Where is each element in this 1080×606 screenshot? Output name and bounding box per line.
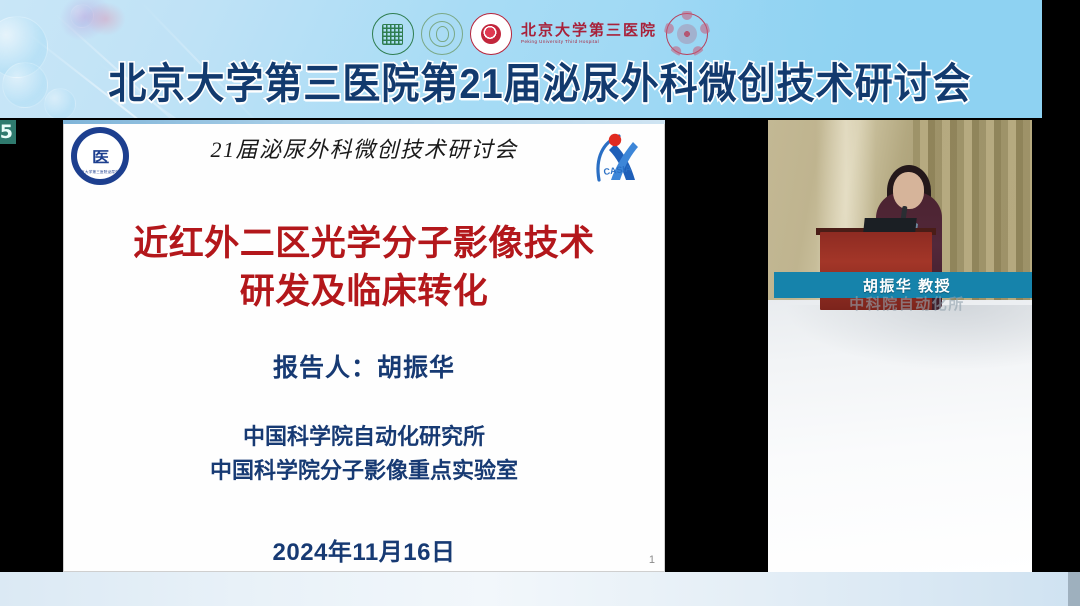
- slide-affiliation: 中国科学院自动化研究所 中国科学院分子影像重点实验室: [63, 420, 665, 488]
- video-right-mask: [1032, 120, 1040, 572]
- conference-title: 北京大学第三医院第21届泌尿外科微创技术研讨会: [0, 60, 1080, 111]
- slide-title-line-1: 近红外二区光学分子影像技术: [63, 220, 665, 268]
- speaker-video-panel[interactable]: 胡振华 教授 中科院自动化所: [768, 120, 1040, 572]
- slide-date: 2024年11月16日: [63, 532, 665, 567]
- pku-wordmark-en: Peking University Third Hospital: [521, 39, 599, 45]
- speaker-caption-affiliation: 中科院自动化所: [774, 293, 1040, 314]
- slide-top-strip: [63, 120, 665, 124]
- pku-third-hospital-emblem-icon: [470, 13, 512, 55]
- slide-title-line-2: 研发及临床转化: [63, 268, 665, 316]
- slide-affiliation-line-2: 中国科学院分子影像重点实验室: [63, 454, 665, 488]
- footer-strip: [0, 572, 1080, 606]
- conference-banner: 北京大学第三医院 Peking University Third Hospita…: [0, 0, 1080, 118]
- slide-presenter: 报告人：胡振华: [63, 348, 665, 384]
- slide-affiliation-line-1: 中国科学院自动化研究所: [63, 420, 665, 454]
- green-grid-emblem-icon: [372, 13, 414, 55]
- pku-third-hospital-wordmark: 北京大学第三医院 Peking University Third Hospita…: [521, 23, 657, 45]
- casia-logo-icon: CASIA: [585, 128, 647, 188]
- stage-area: 5 医 北京大学第三医院泌尿外科 21届泌尿外科微创技术研讨会 CASIA: [0, 118, 1080, 572]
- banner-right-mask: [1042, 0, 1080, 118]
- banner-logo-row: 北京大学第三医院 Peking University Third Hospita…: [0, 12, 1080, 56]
- speaker-head: [893, 172, 924, 209]
- footer-right-mask: [1068, 572, 1080, 606]
- slide-page-number: 1: [649, 554, 655, 566]
- plum-blossom-emblem-icon: [666, 13, 708, 55]
- slide-header-text: 21届泌尿外科微创技术研讨会: [63, 132, 665, 164]
- green-ring-emblem-icon: [421, 13, 463, 55]
- pku-logo-ring-text: 北京大学第三医院泌尿外科: [77, 170, 123, 175]
- slide-main-title: 近红外二区光学分子影像技术 研发及临床转化: [63, 220, 665, 316]
- pku-wordmark-cn: 北京大学第三医院: [521, 23, 657, 39]
- laptop: [863, 218, 916, 232]
- broadcast-screen: 北京大学第三医院 Peking University Third Hospita…: [0, 0, 1080, 606]
- presentation-slide[interactable]: 医 北京大学第三医院泌尿外科 21届泌尿外科微创技术研讨会 CASIA 近红外二…: [63, 120, 665, 572]
- page-badge: 5: [0, 120, 16, 144]
- video-lower-shade: [768, 305, 1040, 425]
